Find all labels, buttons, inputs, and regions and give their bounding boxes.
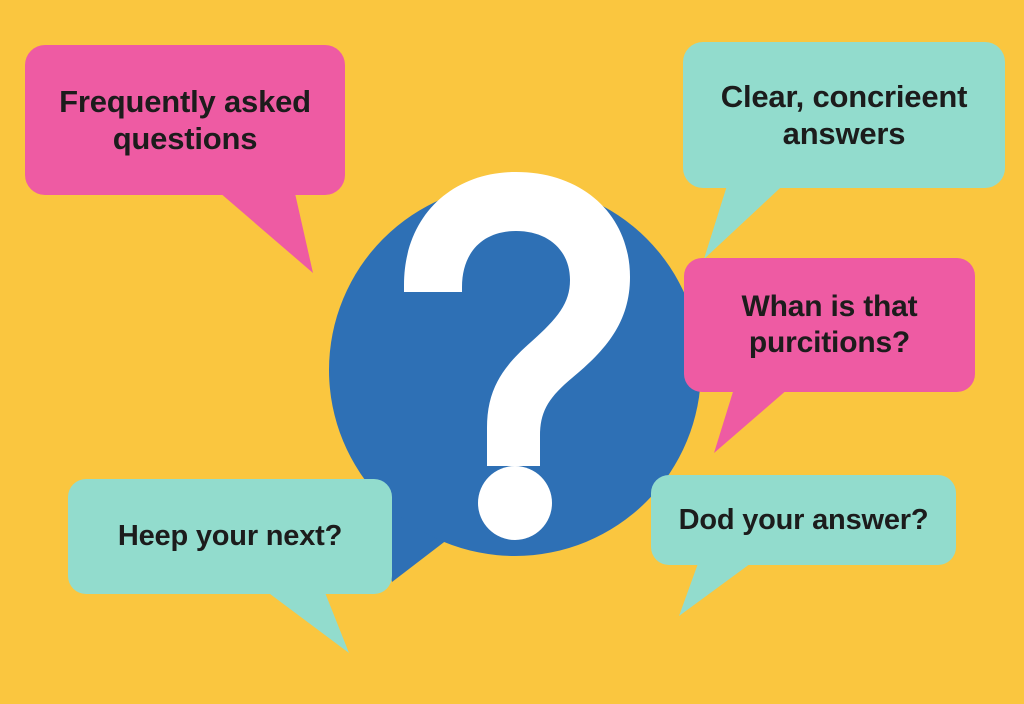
bubble-frequently-asked-questions[interactable]: Frequently asked questions (25, 45, 345, 195)
faq-illustration: Frequently asked questions Clear, concri… (0, 0, 1024, 704)
bubble-when-label: Whan is that purcitions? (742, 289, 918, 361)
bubble-dod-label: Dod your answer? (679, 503, 929, 538)
bubble-clear-concise-answers[interactable]: Clear, concrieent answers (683, 42, 1005, 188)
bubble-when-is-that[interactable]: Whan is that purcitions? (684, 258, 975, 392)
question-mark-dot (478, 466, 552, 540)
bubble-faq-label: Frequently asked questions (59, 83, 311, 157)
bubble-answers-label: Clear, concrieent answers (721, 78, 967, 152)
bubble-dod-your-answer[interactable]: Dod your answer? (651, 475, 956, 565)
bubble-heep-label: Heep your next? (118, 519, 342, 554)
bubble-heep-your-next[interactable]: Heep your next? (68, 479, 392, 594)
